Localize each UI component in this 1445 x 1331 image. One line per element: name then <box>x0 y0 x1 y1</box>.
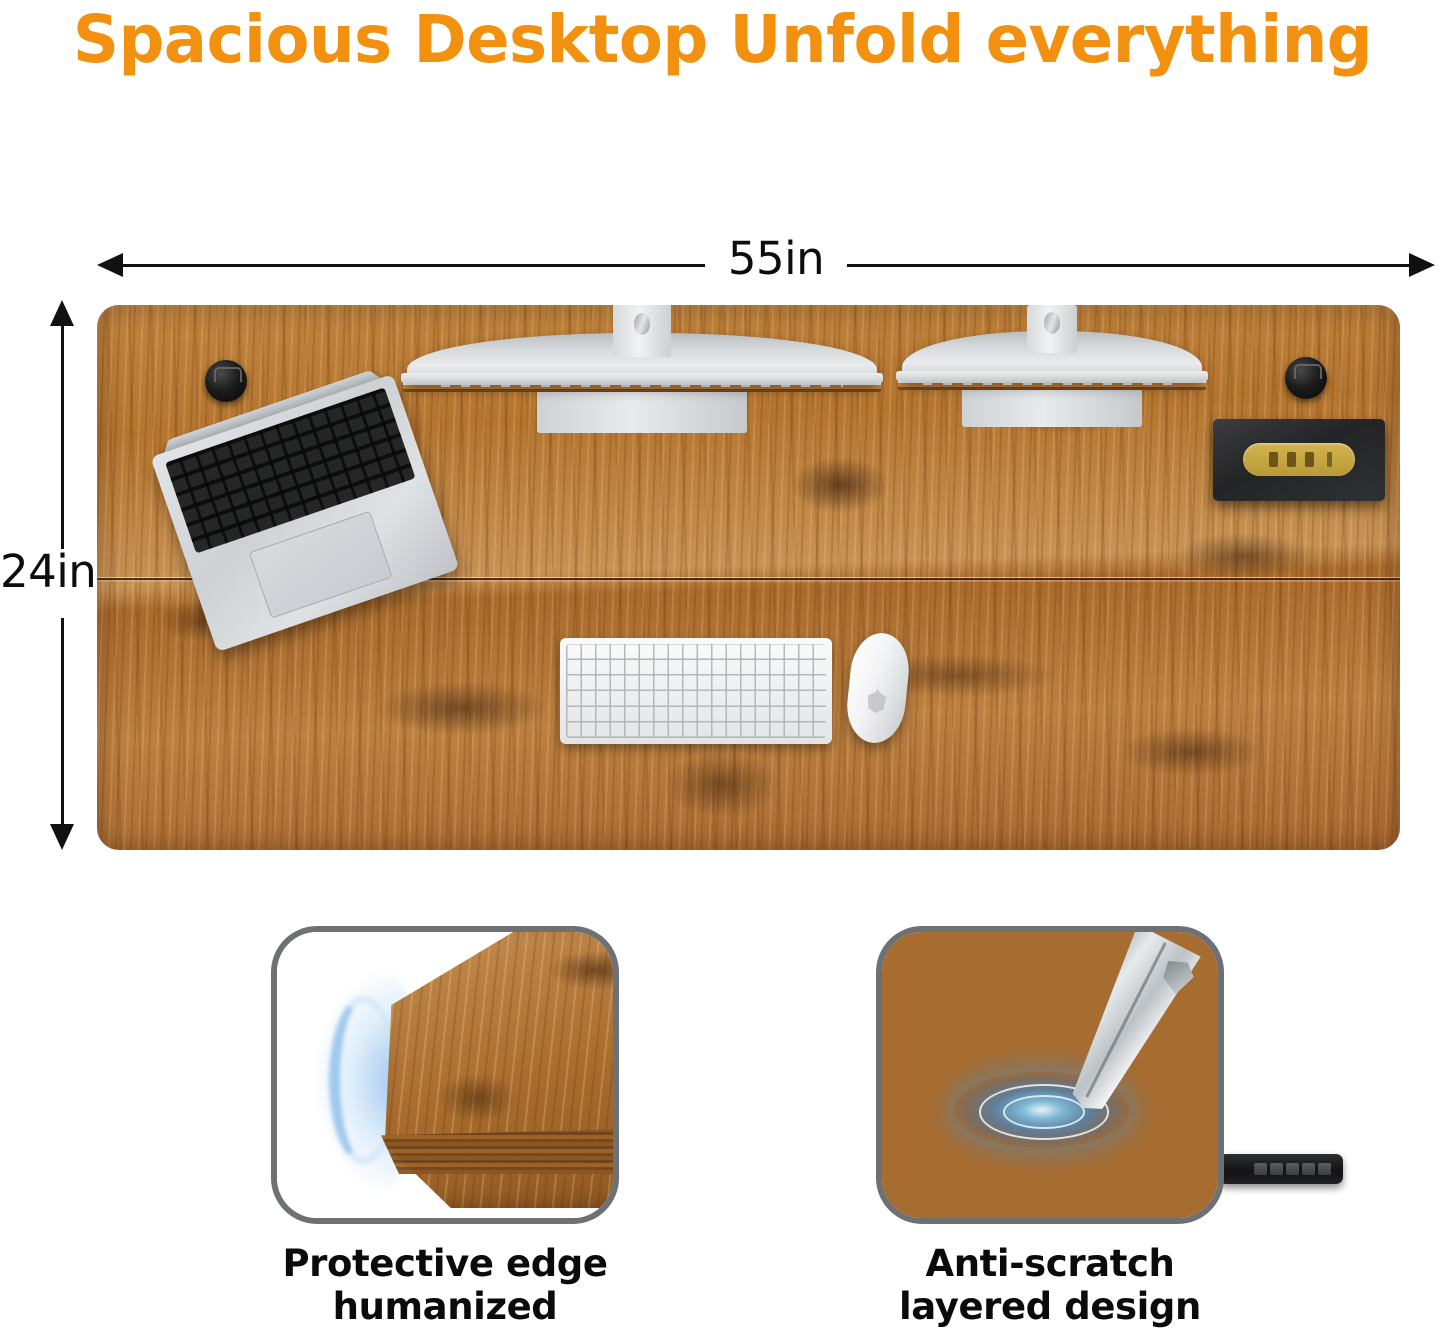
feature-protective-edge-card <box>271 926 619 1224</box>
apple-keyboard <box>560 638 832 744</box>
charging-station-ports <box>1243 443 1355 476</box>
product-infographic: Spacious Desktop Unfold everything 55in … <box>0 0 1445 1331</box>
port-icon <box>1327 452 1332 467</box>
height-control-panel <box>1219 1154 1343 1184</box>
depth-label: 24in <box>0 545 98 598</box>
caption-line-2: layered design <box>876 1285 1224 1328</box>
width-dimension-annotation: 55in <box>97 248 1435 282</box>
laptop-keyboard <box>165 387 416 553</box>
dimension-line-left <box>115 264 705 267</box>
control-preset-3-icon <box>1318 1163 1331 1175</box>
cable-grommet-left-icon <box>205 360 247 402</box>
laptop-base <box>150 374 459 652</box>
caption-line-1: Anti-scratch <box>876 1242 1224 1285</box>
desktop-photo <box>97 305 1400 850</box>
apple-mouse <box>843 630 912 745</box>
cable-grommet-right-icon <box>1285 357 1327 399</box>
dimension-line-bottom <box>61 618 64 836</box>
port-icon <box>1305 452 1314 467</box>
dimension-line-top <box>61 314 64 549</box>
charging-station <box>1213 419 1385 501</box>
arrow-right-icon <box>1409 253 1435 277</box>
laptop <box>150 374 459 652</box>
rounded-edge-illustration <box>277 932 613 1218</box>
monitor-left-lip <box>401 373 883 383</box>
monitor-left <box>407 305 877 413</box>
feature-anti-scratch-card <box>876 926 1224 1224</box>
wood-desktop-surface <box>97 305 1400 850</box>
feature-protective-edge-caption: Protective edge humanized design <box>271 1242 619 1331</box>
control-button-down-icon <box>1270 1163 1283 1175</box>
arrow-down-icon <box>50 824 74 850</box>
wood-corner-edge-layers <box>369 1128 619 1174</box>
port-icon <box>1287 452 1296 467</box>
width-label: 55in <box>705 232 847 285</box>
keyboard-keys <box>566 644 826 738</box>
monitor-right-neck <box>1027 305 1077 353</box>
control-preset-2-icon <box>1302 1163 1315 1175</box>
monitor-right-lip <box>896 371 1208 381</box>
control-button-up-icon <box>1254 1163 1267 1175</box>
feature-protective-edge: Protective edge humanized design <box>271 926 619 1331</box>
page-title: Spacious Desktop Unfold everything <box>22 2 1424 78</box>
monitor-left-neck <box>613 305 671 357</box>
anti-scratch-illustration <box>882 932 1218 1218</box>
port-icon <box>1269 452 1278 467</box>
control-preset-1-icon <box>1286 1163 1299 1175</box>
caption-line-1: Protective edge <box>271 1242 619 1285</box>
dimension-line-right <box>847 264 1417 267</box>
feature-anti-scratch: Anti-scratch layered design <box>876 926 1224 1328</box>
monitor-right <box>902 305 1202 411</box>
caption-line-2: humanized design <box>271 1285 619 1331</box>
feature-anti-scratch-caption: Anti-scratch layered design <box>876 1242 1224 1328</box>
